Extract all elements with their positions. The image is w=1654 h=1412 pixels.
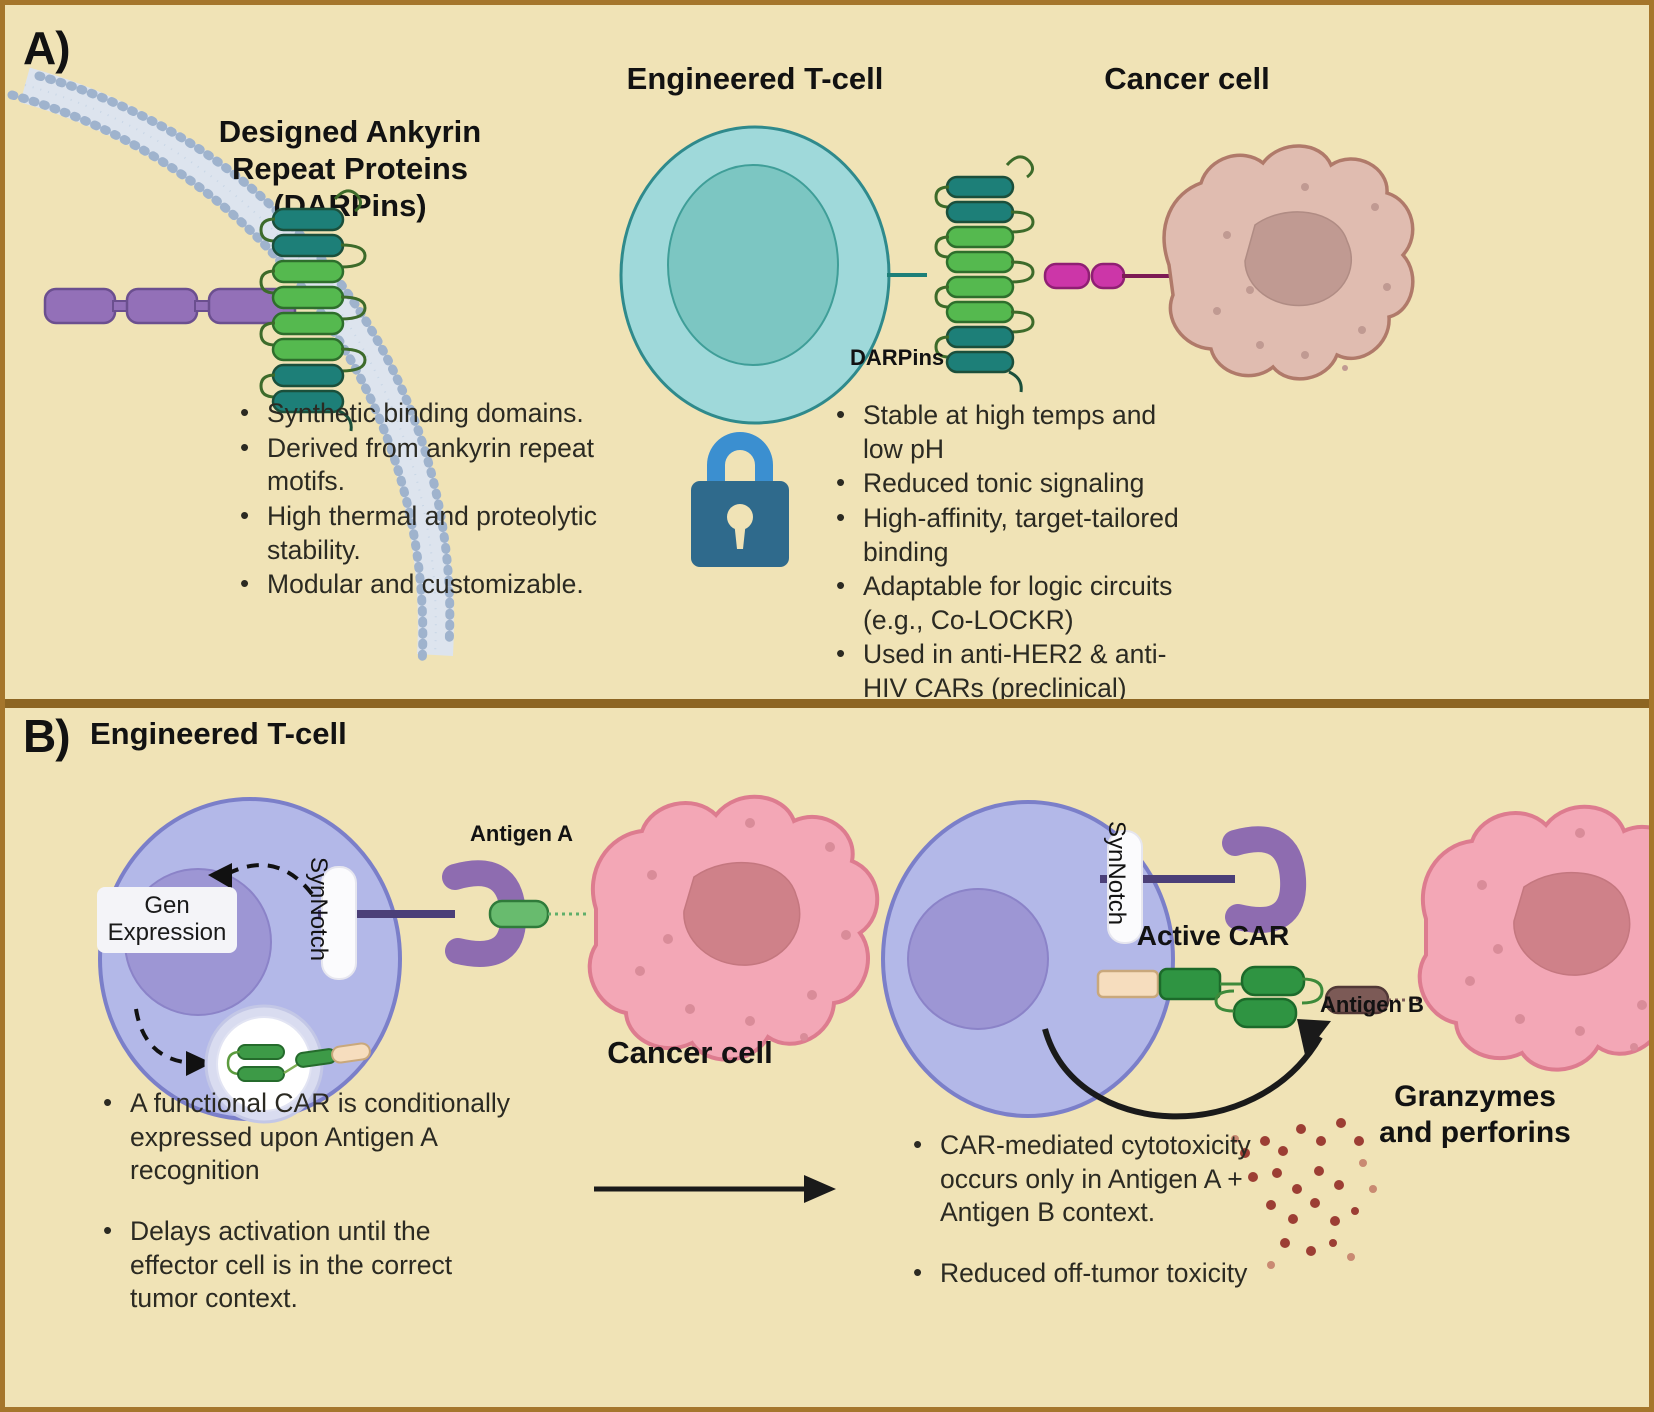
synnotch-label-right: SynNotch	[1102, 821, 1130, 925]
list-item: Used in anti-HER2 & anti-HIV CARs (precl…	[863, 638, 1203, 705]
list-item: Synthetic binding domains.	[267, 397, 627, 431]
list-item: A functional CAR is conditionally expres…	[130, 1087, 520, 1188]
darpins-title: Designed Ankyrin Repeat Proteins (DARPin…	[205, 113, 495, 225]
panel-b: B) Engineered T-cell	[5, 709, 1649, 1409]
list-item: Stable at high temps and low pH	[863, 399, 1203, 466]
panel-b-tcell-title: Engineered T-cell	[90, 715, 370, 752]
panel-a: A) Designed Ankyrin Repeat Proteins (DAR…	[5, 5, 1649, 703]
list-item: High thermal and proteolytic stability.	[267, 500, 627, 567]
panel-b-right-bullets: CAR-mediated cytotoxicity occurs only in…	[910, 1129, 1300, 1318]
panel-divider	[5, 699, 1649, 708]
darpins-callout-label: DARPins	[850, 345, 944, 371]
gene-expression-label: Gen Expression	[97, 887, 237, 953]
panel-b-left-bullets: A functional CAR is conditionally expres…	[100, 1087, 520, 1343]
list-item: Modular and customizable.	[267, 568, 627, 602]
list-item: Delays activation until the effector cel…	[130, 1215, 520, 1316]
panel-a-left-bullets: Synthetic binding domains. Derived from …	[237, 397, 627, 603]
panel-b-letter: B)	[23, 709, 70, 763]
list-item: High-affinity, target-tailored binding	[863, 502, 1203, 569]
list-item: Adaptable for logic circuits (e.g., Co-L…	[863, 570, 1203, 637]
active-car-label: Active CAR	[1113, 919, 1313, 953]
lock-icon	[677, 425, 807, 585]
process-arrow	[590, 1169, 870, 1209]
panel-a-right-bullets: Stable at high temps and low pH Reduced …	[833, 399, 1203, 707]
panel-b-cancer-cell-title: Cancer cell	[565, 1034, 815, 1071]
tcell-cancer-interaction-graphic	[605, 115, 1425, 445]
list-item: Derived from ankyrin repeat motifs.	[267, 432, 627, 499]
cancer-cell-title: Cancer cell	[1057, 60, 1317, 97]
figure-container: A) Designed Ankyrin Repeat Proteins (DAR…	[0, 0, 1654, 1412]
list-item: Reduced off-tumor toxicity	[940, 1257, 1300, 1291]
list-item: CAR-mediated cytotoxicity occurs only in…	[940, 1129, 1300, 1230]
synnotch-label-left: SynNotch	[304, 857, 332, 961]
list-item: Reduced tonic signaling	[863, 467, 1203, 501]
engineered-tcell-title: Engineered T-cell	[625, 60, 885, 97]
granzymes-perforins-label: Granzymes and perforins	[1345, 1079, 1605, 1151]
antigen-a-label: Antigen A	[470, 821, 573, 847]
